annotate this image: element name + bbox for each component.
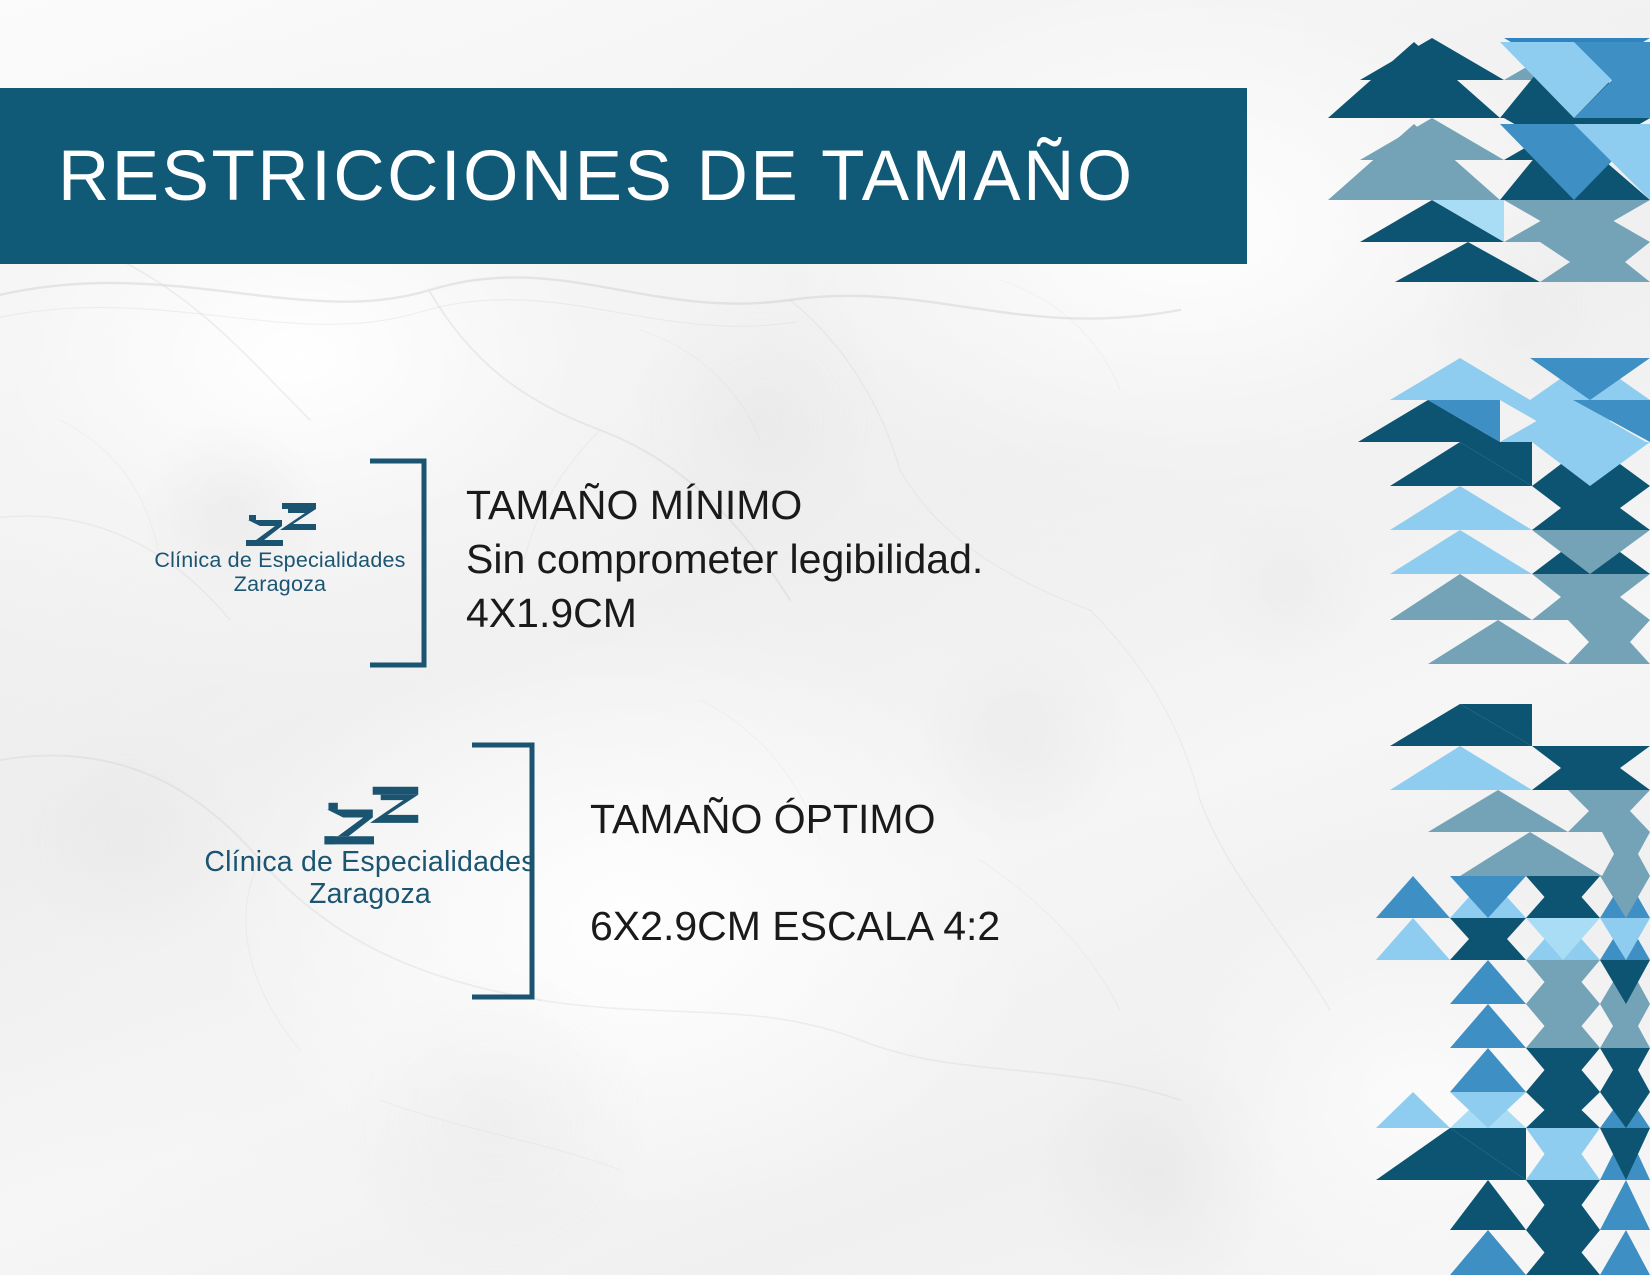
clinica-zaragoza-zz-monogram-icon xyxy=(234,498,326,548)
bracket-optimo-icon xyxy=(470,742,546,1000)
bracket-minimo-icon xyxy=(368,458,438,668)
slide-title-banner: RESTRICCIONES DE TAMAÑO xyxy=(0,88,1247,264)
clinica-zaragoza-zz-monogram-icon xyxy=(308,780,432,847)
spec-minimo-heading: TAMAÑO MÍNIMO xyxy=(466,478,983,532)
spec-minimo: TAMAÑO MÍNIMO Sin comprometer legibilida… xyxy=(466,478,983,640)
spec-minimo-dimensions: 4X1.9CM xyxy=(466,586,983,640)
spec-optimo-dimensions: 6X2.9CM ESCALA 4:2 xyxy=(590,900,1000,953)
spec-minimo-note: Sin comprometer legibilidad. xyxy=(466,532,983,586)
spec-optimo: TAMAÑO ÓPTIMO 6X2.9CM ESCALA 4:2 xyxy=(590,793,1000,954)
spec-optimo-spacer xyxy=(590,846,1000,900)
page-title: RESTRICCIONES DE TAMAÑO xyxy=(58,136,1135,217)
spec-optimo-heading: TAMAÑO ÓPTIMO xyxy=(590,793,1000,846)
slide-canvas: RESTRICCIONES DE TAMAÑO Clínica de Espec… xyxy=(0,0,1650,1275)
